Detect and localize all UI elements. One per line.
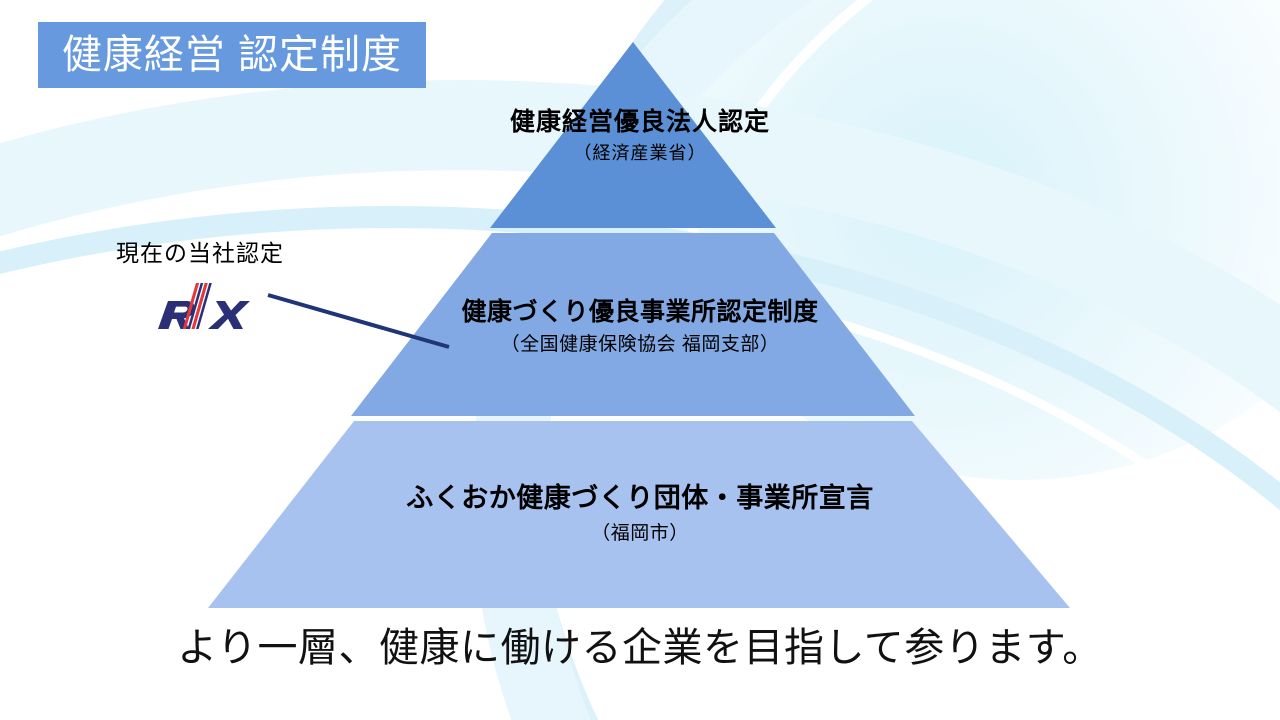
rix-logo bbox=[152, 281, 252, 337]
pyramid-tier-3-label: ふくおか健康づくり団体・事業所宣言 （福岡市） bbox=[0, 483, 1280, 546]
slide-canvas: 健康経営 認定制度 健康経営優良法人認定 （経済産業省） 健康づくり優良事業所認… bbox=[0, 0, 1280, 720]
tier-1-subtitle: （経済産業省） bbox=[0, 143, 1280, 165]
annotation-label: 現在の当社認定 bbox=[95, 240, 305, 268]
tier-2-subtitle: （全国健康保険協会 福岡支部） bbox=[0, 334, 1280, 357]
tier-1-title: 健康経営優良法人認定 bbox=[0, 108, 1280, 137]
tier-3-title: ふくおか健康づくり団体・事業所宣言 bbox=[0, 483, 1280, 514]
tier-3-subtitle: （福岡市） bbox=[0, 523, 1280, 546]
rix-logo-letter-x bbox=[208, 301, 250, 329]
current-certification-annotation: 現在の当社認定 bbox=[95, 240, 305, 268]
slide-caption: より一層、健康に働ける企業を目指して参ります。 bbox=[0, 626, 1280, 670]
caption-text: より一層、健康に働ける企業を目指して参ります。 bbox=[177, 626, 1103, 670]
pyramid-tier-1-label: 健康経営優良法人認定 （経済産業省） bbox=[0, 108, 1280, 164]
